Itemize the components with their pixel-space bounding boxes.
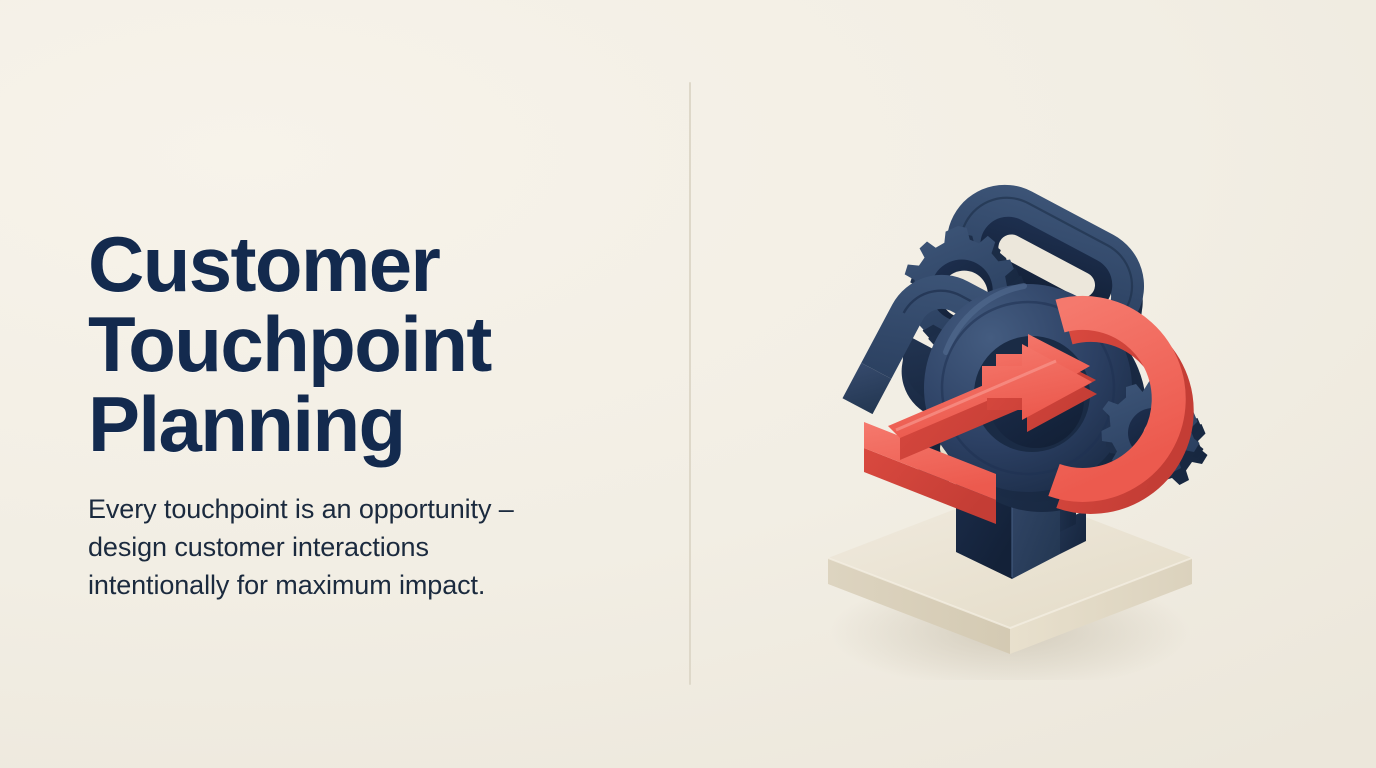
page-title: Customer Touchpoint Planning bbox=[88, 224, 628, 464]
text-column: Customer Touchpoint Planning Every touch… bbox=[88, 224, 628, 604]
vertical-divider bbox=[689, 82, 691, 685]
page-subtitle: Every touchpoint is an opportunity – des… bbox=[88, 490, 628, 604]
slide-canvas: Customer Touchpoint Planning Every touch… bbox=[0, 0, 1376, 768]
illustration-3d-gears-arrow bbox=[760, 120, 1260, 680]
